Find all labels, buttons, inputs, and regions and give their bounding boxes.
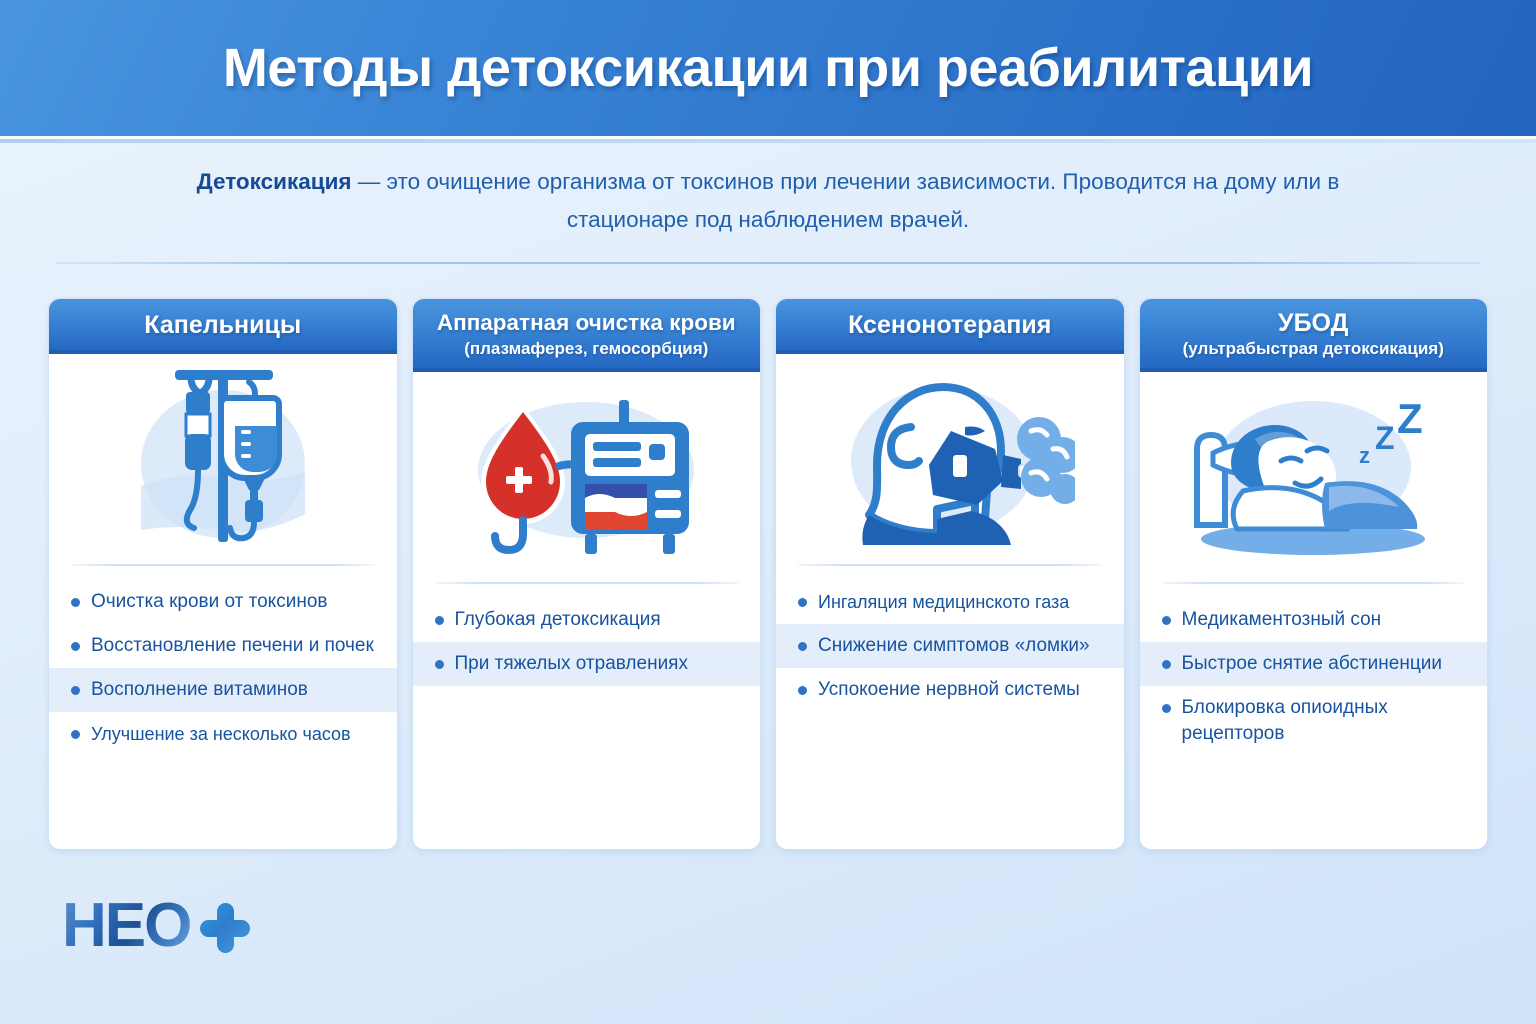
card-header: Аппаратная очистка крови (плазмаферез, г… [413, 299, 761, 372]
svg-text:Z: Z [1375, 420, 1395, 456]
card-header: Ксенонотерапия [776, 299, 1124, 354]
card-icon-zone: z Z Z [1140, 372, 1488, 582]
card-icon-zone [49, 354, 397, 564]
header-underline-bottom [0, 139, 1536, 143]
bullet-dot-icon [435, 660, 444, 669]
list-item: Успокоение нервной системы [776, 668, 1124, 712]
card-header: УБОД (ультрабыстрая детоксикация) [1140, 299, 1488, 372]
list-item: Быстрое снятие абстиненции [1140, 642, 1488, 686]
bullet-dot-icon [1162, 660, 1171, 669]
oxygen-mask-inhalation-icon [825, 369, 1075, 549]
bullet-dot-icon [798, 686, 807, 695]
intro-paragraph: Детоксикация — это очищение организма от… [188, 163, 1348, 239]
card-header: Капельницы [49, 299, 397, 354]
bullet-dot-icon [798, 642, 807, 651]
benefit-text: Ингаляция медицинското газа [818, 589, 1108, 615]
list-item: Восстановление печени и почек [49, 624, 397, 668]
intro-body-text: — это очищение организма от токсинов при… [352, 169, 1340, 232]
benefit-text: Быстрое снятие абстиненции [1182, 651, 1472, 677]
benefit-text: При тяжелых отравлениях [455, 651, 745, 677]
bullet-dot-icon [1162, 616, 1171, 625]
method-card-ubod[interactable]: УБОД (ультрабыстрая детоксикация) z Z [1139, 298, 1489, 850]
bullet-dot-icon [71, 598, 80, 607]
list-item: Блокировка опиоидных рецепторов [1140, 686, 1488, 756]
benefit-text: Снижение симптомов «ломки» [818, 633, 1108, 659]
benefit-text: Успокоение нервной системы [818, 677, 1108, 703]
card-title: Капельницы [59, 310, 387, 340]
svg-text:Z: Z [1397, 395, 1423, 442]
method-card-ksenonoterapiya[interactable]: Ксенонотерапия [775, 298, 1125, 850]
logo-plus-icon [200, 903, 250, 953]
benefit-text: Очистка крови от токсинов [91, 589, 381, 615]
card-icon-zone [413, 372, 761, 582]
benefit-text: Восстановление печени и почек [91, 633, 381, 659]
list-item: Восполнение витаминов [49, 668, 397, 712]
benefit-list: Медикаментозный сон Быстрое снятие абсти… [1140, 584, 1488, 849]
svg-text:z: z [1359, 443, 1370, 468]
benefit-text: Блокировка опиоидных рецепторов [1182, 695, 1472, 747]
card-title: Аппаратная очистка крови [421, 308, 753, 338]
bullet-dot-icon [71, 642, 80, 651]
iv-drip-icon [123, 364, 323, 554]
list-item: Медикаментозный сон [1140, 598, 1488, 642]
benefit-list: Глубокая детоксикация При тяжелых отравл… [413, 584, 761, 849]
benefit-text: Медикаментозный сон [1182, 607, 1472, 633]
card-title: Ксенонотерапия [786, 310, 1114, 340]
blood-purification-machine-icon [461, 392, 711, 562]
card-subtitle: (ультрабыстрая детоксикация) [1148, 338, 1480, 360]
bullet-dot-icon [71, 686, 80, 695]
method-card-apparatnaya-ochistka[interactable]: Аппаратная очистка крови (плазмаферез, г… [412, 298, 762, 850]
page-title: Методы детоксикации при реабилитации [223, 37, 1313, 99]
card-title: УБОД [1148, 308, 1480, 338]
method-card-kapelnitsy[interactable]: Капельницы [48, 298, 398, 850]
sleeping-patient-icon: z Z Z [1183, 387, 1443, 567]
bullet-dot-icon [435, 616, 444, 625]
brand-logo[interactable]: НЕО [62, 893, 250, 959]
list-item: Глубокая детоксикация [413, 598, 761, 642]
card-icon-zone [776, 354, 1124, 564]
benefit-text: Восполнение витаминов [91, 677, 381, 703]
benefit-list: Очистка крови от токсинов Восстановление… [49, 566, 397, 849]
list-item: При тяжелых отравлениях [413, 642, 761, 686]
header-banner: Методы детоксикации при реабилитации [0, 0, 1536, 136]
bullet-dot-icon [1162, 704, 1171, 713]
list-item: Улучшение за несколько часов [49, 712, 397, 756]
list-item: Снижение симптомов «ломки» [776, 624, 1124, 668]
list-item: Очистка крови от токсинов [49, 580, 397, 624]
bullet-dot-icon [798, 598, 807, 607]
list-item: Ингаляция медицинското газа [776, 580, 1124, 624]
bullet-dot-icon [71, 730, 80, 739]
benefit-text: Глубокая детоксикация [455, 607, 745, 633]
method-cards-row: Капельницы [48, 298, 1488, 850]
logo-wordmark: НЕО [62, 893, 190, 959]
card-subtitle: (плазмаферез, гемосорбция) [421, 338, 753, 360]
section-divider [56, 262, 1480, 264]
intro-lead-term: Детоксикация [197, 169, 352, 194]
benefit-list: Ингаляция медицинското газа Снижение сим… [776, 566, 1124, 849]
benefit-text: Улучшение за несколько часов [91, 721, 381, 747]
